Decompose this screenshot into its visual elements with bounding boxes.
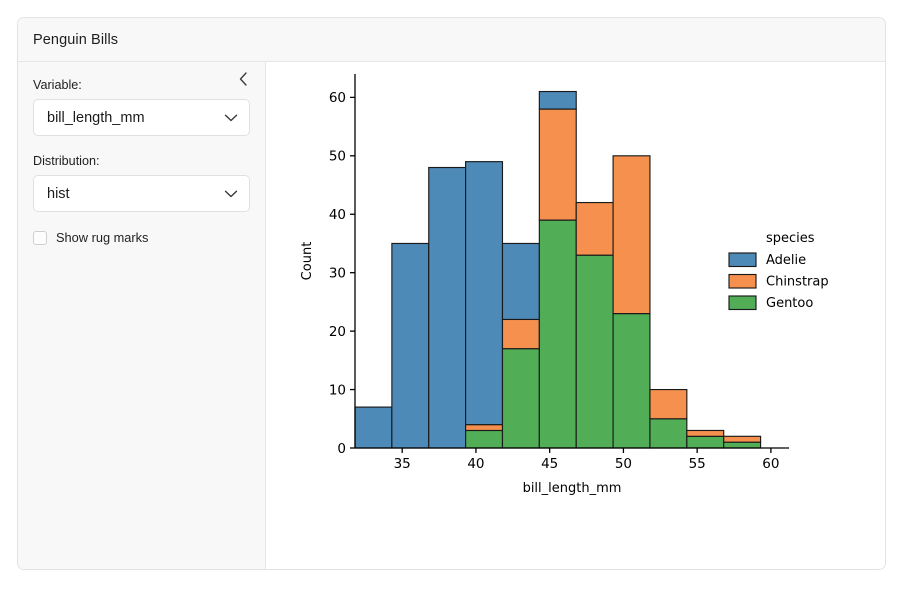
plot-pane: 0102030405060354045505560bill_length_mmC…	[266, 62, 885, 570]
bar-segment	[687, 436, 724, 448]
bar-segment	[392, 243, 429, 448]
legend-title: species	[766, 231, 815, 246]
chevron-down-icon	[224, 113, 238, 122]
bars-layer	[355, 92, 761, 448]
legend-swatch	[729, 296, 756, 310]
x-tick-label: 40	[467, 456, 484, 472]
y-tick-label: 40	[329, 207, 346, 223]
x-axis-title: bill_length_mm	[523, 481, 622, 496]
bar-segment	[502, 349, 539, 448]
x-tick-label: 35	[394, 456, 411, 472]
x-tick-label: 45	[541, 456, 558, 472]
bar-segment	[539, 109, 576, 220]
page-title: Penguin Bills	[33, 32, 118, 48]
y-tick-label: 60	[329, 90, 346, 106]
show-rug-marks-label: Show rug marks	[56, 230, 148, 245]
legend-label: Chinstrap	[766, 275, 829, 290]
distribution-select[interactable]: hist	[33, 175, 250, 212]
y-tick-label: 20	[329, 324, 346, 340]
y-tick-label: 0	[337, 441, 346, 457]
legend-layer: speciesAdelieChinstrapGentoo	[729, 231, 829, 311]
bar-segment	[650, 390, 687, 419]
variable-label: Variable:	[33, 78, 250, 92]
y-tick-label: 50	[329, 149, 346, 165]
bar-segment	[502, 243, 539, 319]
y-tick-label: 10	[329, 382, 346, 398]
x-tick-label: 50	[615, 456, 632, 472]
bar-segment	[687, 430, 724, 436]
bar-segment	[355, 407, 392, 448]
window-title-bar: Penguin Bills	[18, 18, 885, 62]
bar-segment	[576, 255, 613, 448]
bar-segment	[613, 314, 650, 448]
chevron-down-icon	[224, 189, 238, 198]
bar-segment	[466, 425, 503, 431]
bar-segment	[502, 319, 539, 348]
bar-segment	[613, 156, 650, 314]
sidebar: Variable: bill_length_mm Distribution: h…	[18, 62, 266, 570]
show-rug-marks-checkbox[interactable]	[33, 231, 47, 245]
window-body: Variable: bill_length_mm Distribution: h…	[18, 62, 885, 570]
legend-swatch	[729, 275, 756, 289]
bar-segment	[724, 442, 761, 448]
distribution-label: Distribution:	[33, 154, 250, 168]
bar-segment	[724, 436, 761, 442]
variable-select-value: bill_length_mm	[47, 110, 145, 126]
x-tick-label: 55	[689, 456, 706, 472]
bar-segment	[429, 168, 466, 449]
variable-select[interactable]: bill_length_mm	[33, 99, 250, 136]
bar-segment	[466, 430, 503, 448]
app-window: Penguin Bills Variable: bill_length_mm	[17, 17, 886, 570]
legend-swatch	[729, 253, 756, 267]
chevron-left-icon	[238, 71, 249, 92]
bar-segment	[466, 162, 503, 425]
histogram-chart: 0102030405060354045505560bill_length_mmC…	[266, 62, 885, 570]
legend-label: Gentoo	[766, 296, 813, 311]
bar-segment	[539, 92, 576, 110]
y-axis-title: Count	[300, 242, 315, 281]
bar-segment	[576, 203, 613, 256]
bar-segment	[650, 419, 687, 448]
bar-segment	[539, 220, 576, 448]
distribution-select-value: hist	[47, 186, 70, 202]
x-tick-label: 60	[762, 456, 779, 472]
y-tick-label: 30	[329, 265, 346, 281]
sidebar-collapse-button[interactable]	[232, 70, 254, 92]
legend-label: Adelie	[766, 253, 806, 268]
show-rug-marks-row[interactable]: Show rug marks	[33, 230, 250, 245]
